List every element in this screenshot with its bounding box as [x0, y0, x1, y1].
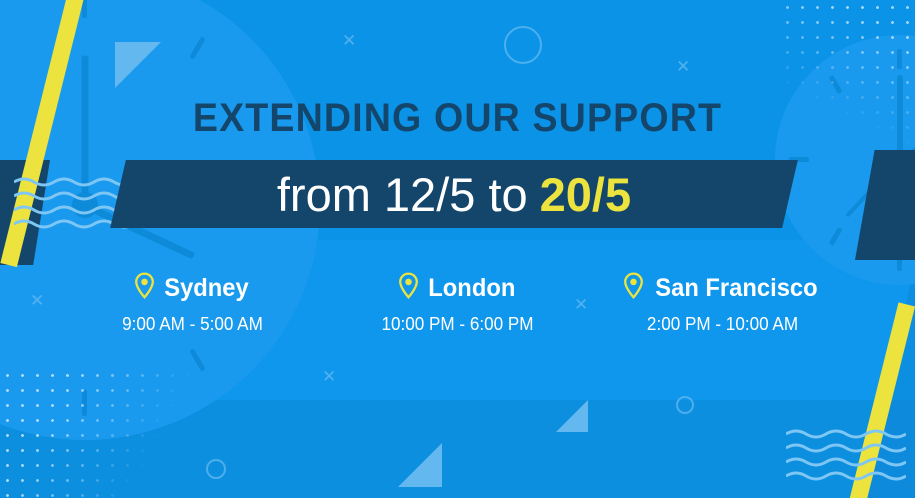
location-pin-icon: [134, 272, 155, 304]
city-header-san-francisco: San Francisco: [590, 272, 855, 304]
city-name: Sydney: [164, 274, 248, 303]
accent-sparkle-c: ✕: [322, 368, 336, 385]
accent-sparkle-e: ✕: [30, 292, 44, 309]
city-item-sydney: Sydney 9:00 AM - 5:00 AM: [60, 272, 325, 335]
accent-ring-top: [504, 26, 542, 64]
city-hours: 9:00 AM - 5:00 AM: [67, 314, 319, 335]
city-header-sydney: Sydney: [60, 272, 325, 304]
city-header-london: London: [325, 272, 590, 304]
accent-ring-right: [676, 396, 694, 414]
date-range-prefix: from 12/5 to: [277, 167, 528, 222]
city-hours: 2:00 PM - 10:00 AM: [597, 314, 849, 335]
accent-sparkle-b: ✕: [676, 58, 690, 75]
city-hours-list: Sydney 9:00 AM - 5:00 AM London 10:00 PM…: [60, 272, 855, 335]
promo-banner: ✕ ✕ ✕ ✕ ✕ EXTENDING OUR SUPPORT from 12/…: [0, 0, 915, 498]
city-name: London: [428, 274, 515, 303]
city-hours: 10:00 PM - 6:00 PM: [332, 314, 584, 335]
location-pin-icon: [398, 272, 419, 304]
wave-lines-icon-right: [786, 428, 906, 487]
accent-ring-bottom: [206, 459, 226, 479]
city-name: San Francisco: [655, 274, 817, 303]
date-range-highlight: 20/5: [540, 167, 631, 222]
city-item-san-francisco: San Francisco 2:00 PM - 10:00 AM: [590, 272, 855, 335]
dot-grid-pattern-top-right: [780, 0, 915, 175]
accent-sparkle-a: ✕: [342, 32, 356, 49]
page-title: EXTENDING OUR SUPPORT: [27, 96, 887, 141]
date-range-text: from 12/5 to 20/5: [118, 160, 790, 228]
location-pin-icon: [623, 272, 644, 304]
city-item-london: London 10:00 PM - 6:00 PM: [325, 272, 590, 335]
